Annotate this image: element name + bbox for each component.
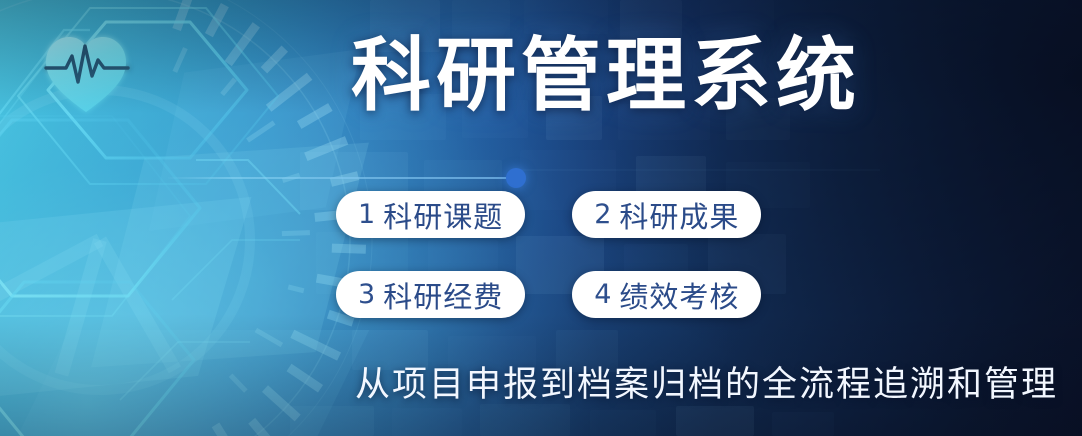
feature-pill-4[interactable]: 4 绩效考核: [572, 271, 761, 318]
feature-pill-3[interactable]: 3 科研经费: [336, 271, 525, 318]
feature-number-3: 3: [358, 279, 375, 310]
page-subtitle: 从项目申报到档案归档的全流程追溯和管理: [0, 356, 1058, 407]
feature-pill-2[interactable]: 2 科研成果: [572, 191, 761, 238]
feature-number-1: 1: [358, 199, 375, 230]
page-title: 科研管理系统: [326, 36, 886, 116]
feature-label-1: 科研课题: [383, 194, 503, 236]
feature-label-2: 科研成果: [619, 194, 739, 236]
banner-content: 科研管理系统 1 科研课题 2 科研成果 3 科研经费 4 绩效考核 从项目申报…: [0, 0, 1082, 436]
feature-number-2: 2: [594, 199, 611, 230]
feature-pill-1[interactable]: 1 科研课题: [336, 191, 525, 238]
feature-label-3: 科研经费: [383, 274, 503, 316]
feature-label-4: 绩效考核: [619, 274, 739, 316]
research-management-banner: 科研管理系统 1 科研课题 2 科研成果 3 科研经费 4 绩效考核 从项目申报…: [0, 0, 1082, 436]
feature-pill-grid: 1 科研课题 2 科研成果 3 科研经费 4 绩效考核: [336, 191, 761, 318]
feature-number-4: 4: [594, 279, 611, 310]
